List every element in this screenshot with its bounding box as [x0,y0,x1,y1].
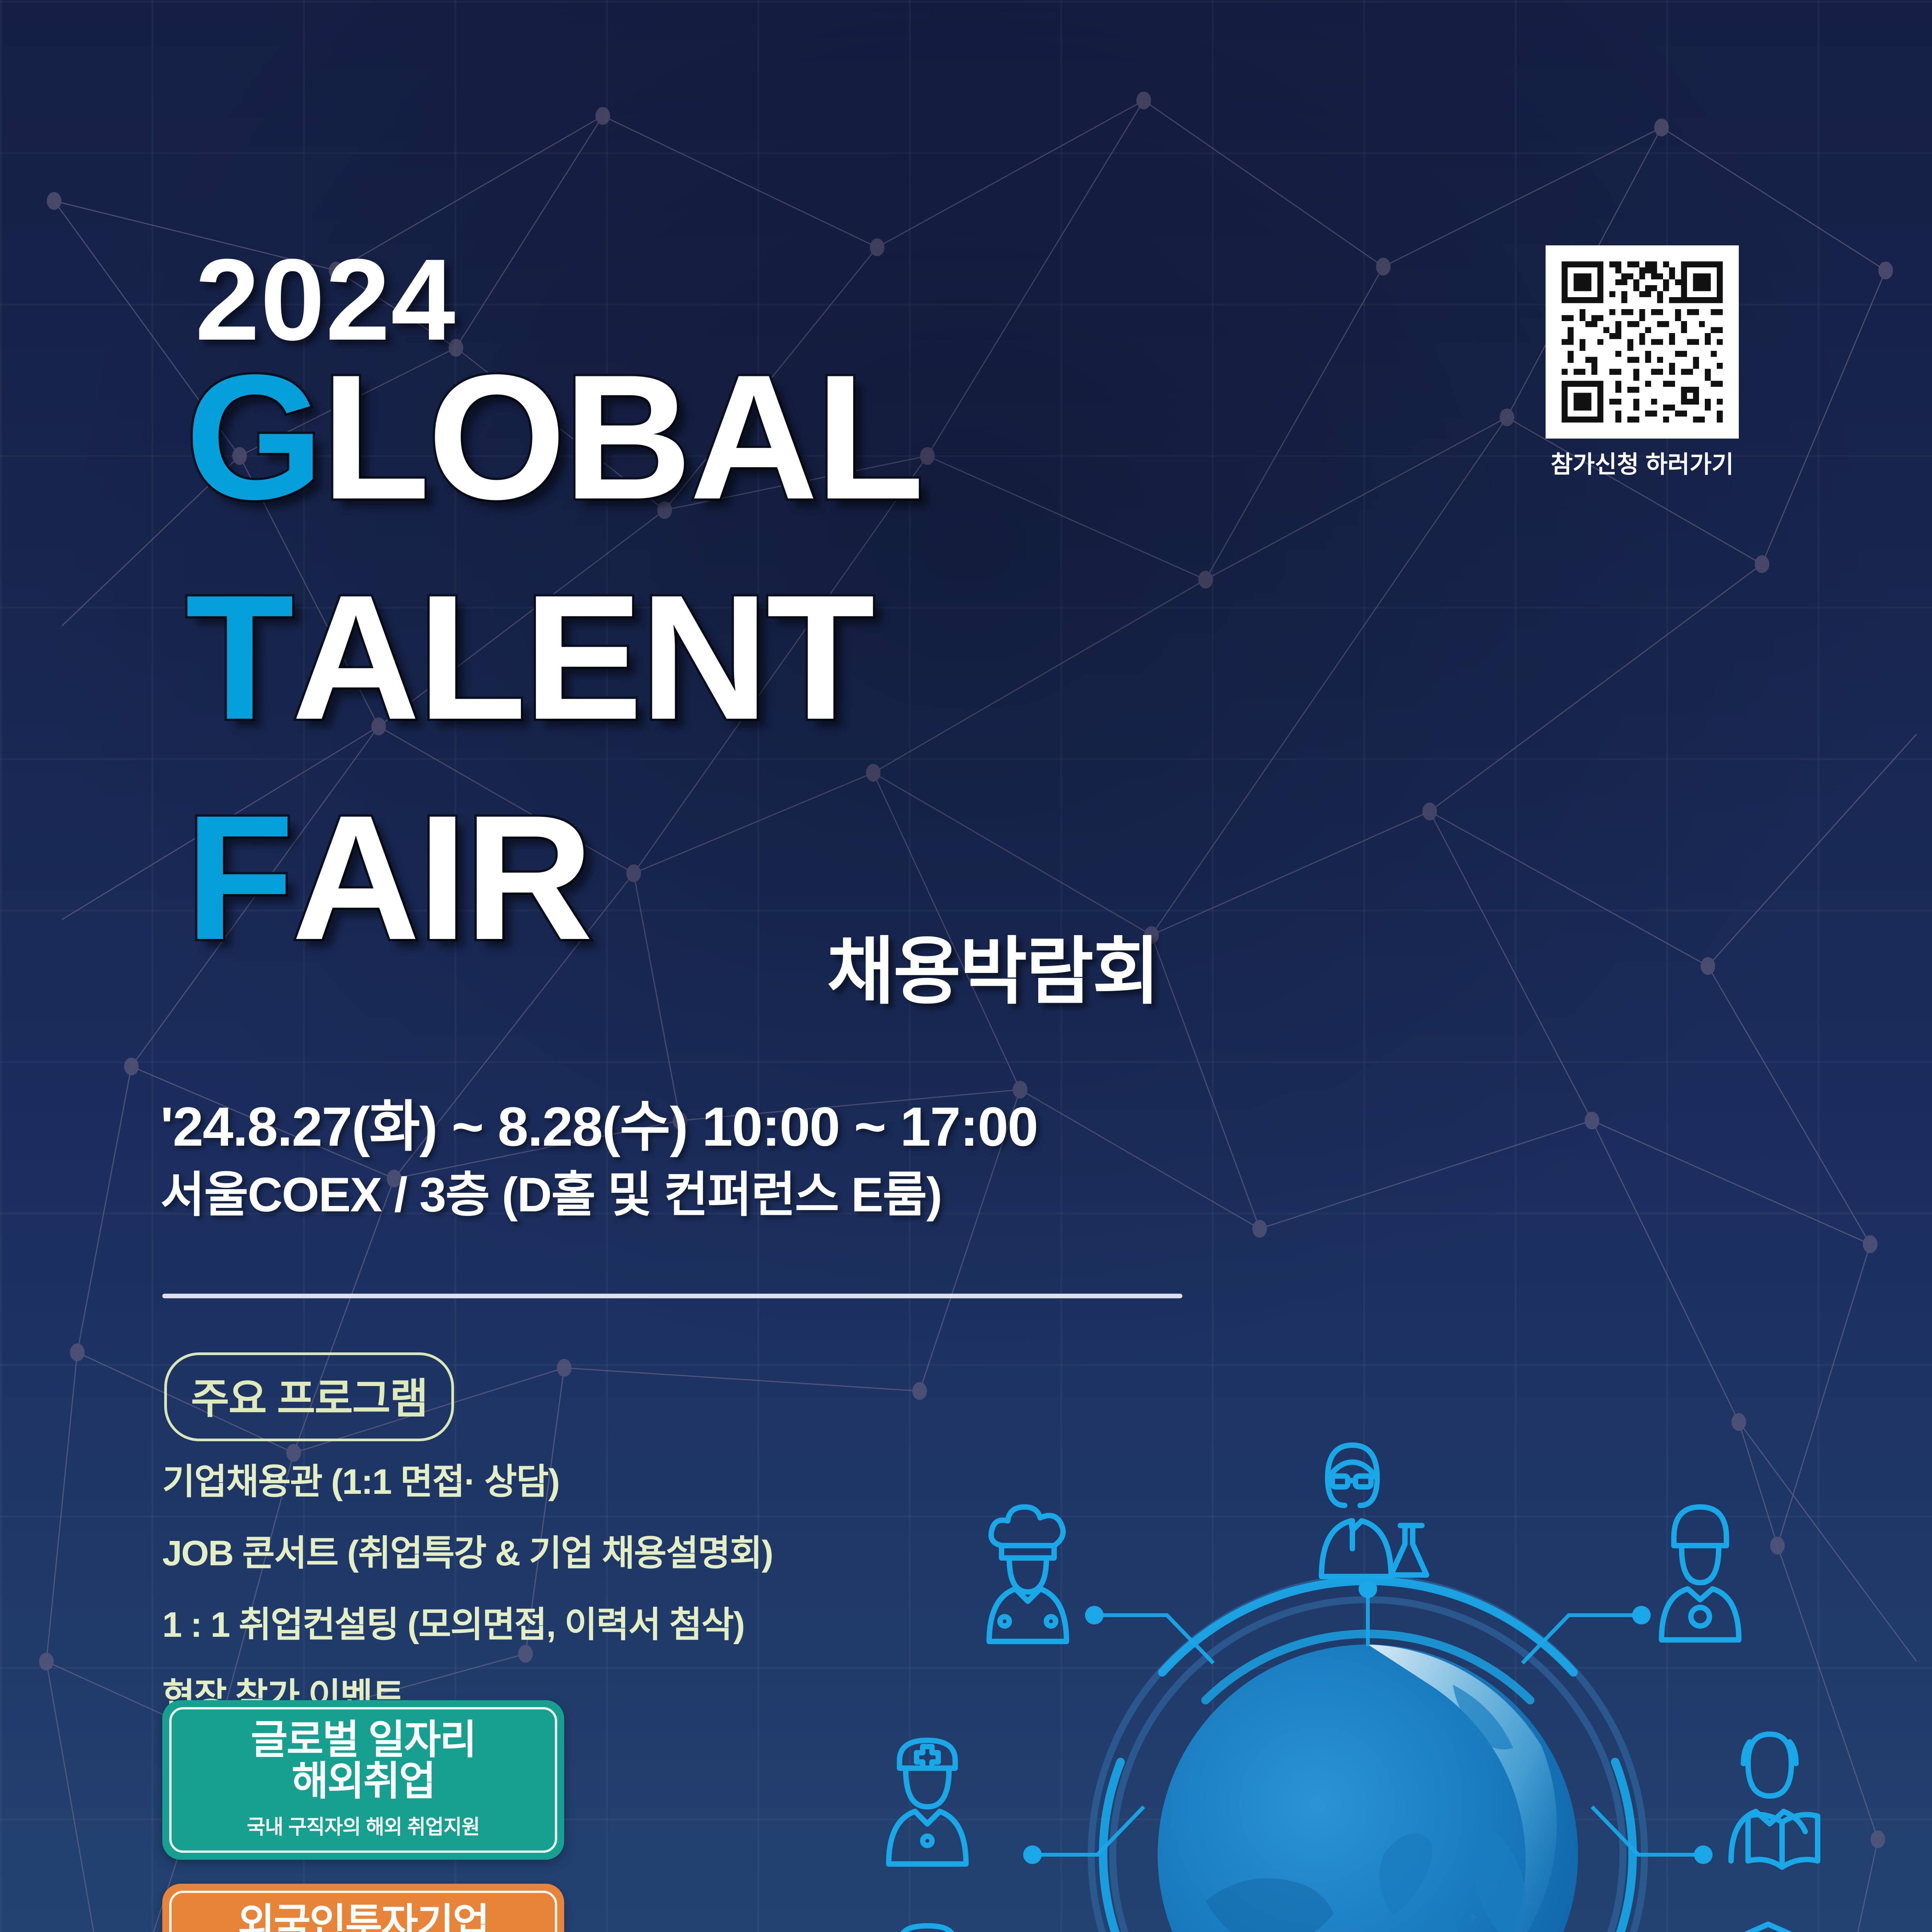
category-card-list: 글로벌 일자리 해외취업 국내 구직자의 해외 취업지원 외국인투자기업 채용 … [162,1700,564,1932]
qr-caption: 참가신청 하러가기 [1546,445,1739,480]
title-line-talent: TALENT [185,580,872,736]
title-rest-alent: ALENT [292,580,872,736]
scientist-icon [1321,1445,1427,1577]
title-initial-f: F [185,800,292,956]
nurse-icon [889,1740,966,1864]
event-date: '24.8.27(화) ~ 8.28(수) 10:00 ~ 17:00 [160,1082,1037,1162]
title-rest-lobal: LOBAL [321,359,922,516]
category-title-line1: 외국인투자기업 [238,1901,489,1932]
category-card-foreign-investment[interactable]: 외국인투자기업 채용 국내 외국인투자기업의 채용지원 [162,1884,564,1932]
category-title-line1: 글로벌 일자리 [251,1718,476,1762]
category-title: 외국인투자기업 채용 [179,1903,548,1932]
event-venue: 서울COEX / 3층 (D홀 및 컨퍼런스 E룸) [160,1155,942,1225]
category-card-inner: 외국인투자기업 채용 국내 외국인투자기업의 채용지원 [169,1891,557,1932]
title-line-fair: FAIR [185,800,591,956]
title-initial-g: G [185,359,321,516]
qr-code[interactable] [1546,245,1739,439]
category-card-global-jobs[interactable]: 글로벌 일자리 해외취업 국내 구직자의 해외 취업지원 [162,1700,564,1860]
category-title-line2: 해외취업 [292,1759,435,1804]
graduate-icon [1730,1924,1807,1932]
category-title: 글로벌 일자리 해외취업 [179,1719,548,1802]
poster-root: 2024 GLOBAL TALENT FAIR 채용박람회 [0,0,1932,1932]
chef-icon [989,1507,1066,1641]
title-korean-subtitle: 채용박람회 [827,912,1159,1018]
title-line-global: GLOBAL [185,359,922,516]
qr-matrix [1556,255,1729,429]
category-desc: 국내 구직자의 해외 취업지원 [179,1811,548,1840]
security-guard-icon [1662,1507,1739,1640]
title-rest-air: AIR [292,800,591,956]
category-card-inner: 글로벌 일자리 해외취업 국내 구직자의 해외 취업지원 [169,1707,557,1853]
globe-illustration [842,1360,1893,1932]
section-divider [162,1294,1182,1298]
program-badge: 주요 프로그램 [164,1352,454,1441]
teacher-icon [1731,1734,1818,1867]
title-initial-t: T [185,580,292,736]
qr-section[interactable]: 참가신청 하러가기 [1546,245,1739,480]
welder-icon [889,1926,966,1932]
